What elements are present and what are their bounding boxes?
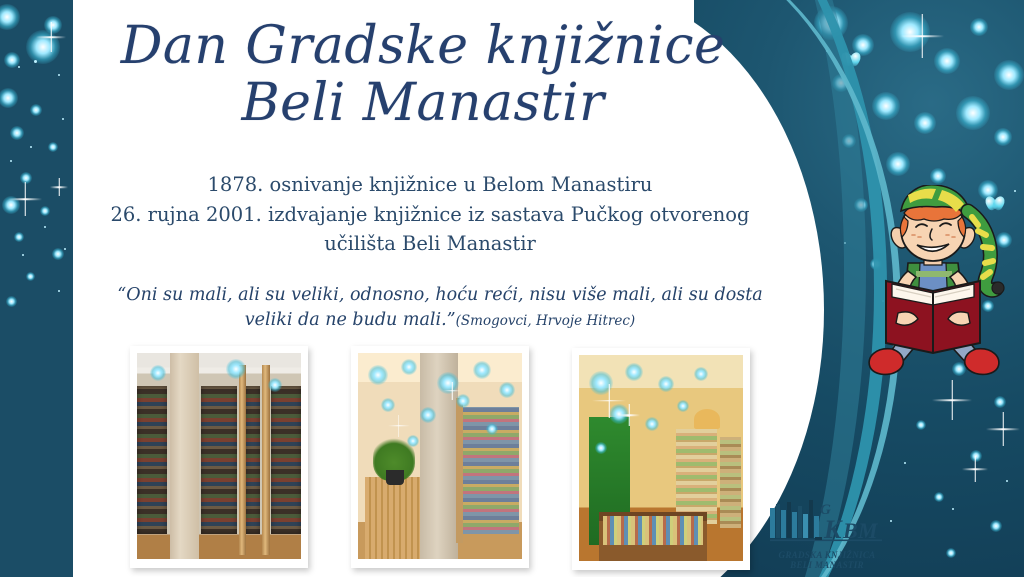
quote-attribution: (Smogovci, Hrvoje Hitrec): [456, 313, 636, 329]
photo-childrens-section: [572, 348, 750, 570]
photo-library-stacks: [130, 346, 308, 568]
subtitle-line-3: učilišta Beli Manastir: [85, 229, 775, 259]
poster-subtitle: 1878. osnivanje knjižnice u Belom Manast…: [85, 170, 775, 259]
left-starfield-band: [0, 0, 73, 577]
logo-line-1: GRADSKA KNJIŽNICA: [768, 550, 886, 560]
photo-2-image: [358, 353, 522, 559]
subtitle-line-2: 26. rujna 2001. izdvajanje knjižnice iz …: [85, 200, 775, 230]
photo-1-image: [137, 353, 301, 559]
poster-title: Dan Gradske knjižnice Beli Manastir: [73, 18, 773, 132]
poster-quote: “Oni su mali, ali su veliki, odnosno, ho…: [110, 283, 770, 334]
quote-line-1: “Oni su mali, ali su veliki, odnosno, ho…: [110, 283, 770, 308]
quote-line-2-text: veliki da ne budu mali.”: [245, 310, 456, 330]
left-band-stars: [0, 0, 73, 577]
title-line-2: Beli Manastir: [73, 75, 773, 132]
photo-reception-desk: [351, 346, 529, 568]
elf-reading-book-illustration: [846, 185, 1021, 380]
gkbm-logo-mark: G K B M: [768, 498, 886, 544]
logo-line-2: BELI MANASTIR: [768, 560, 886, 570]
svg-text:M: M: [857, 518, 879, 543]
poster-canvas: Dan Gradske knjižnice Beli Manastir 1878…: [0, 0, 1024, 577]
svg-text:B: B: [842, 518, 858, 543]
photo-3-image: [579, 355, 743, 561]
library-logo[interactable]: G K B M GRADSKA KNJIŽNICA BELI MANASTIR: [768, 498, 886, 564]
title-line-1: Dan Gradske knjižnice: [73, 18, 773, 75]
subtitle-line-1: 1878. osnivanje knjižnice u Belom Manast…: [85, 170, 775, 200]
quote-line-2: veliki da ne budu mali.”(Smogovci, Hrvoj…: [110, 308, 770, 333]
